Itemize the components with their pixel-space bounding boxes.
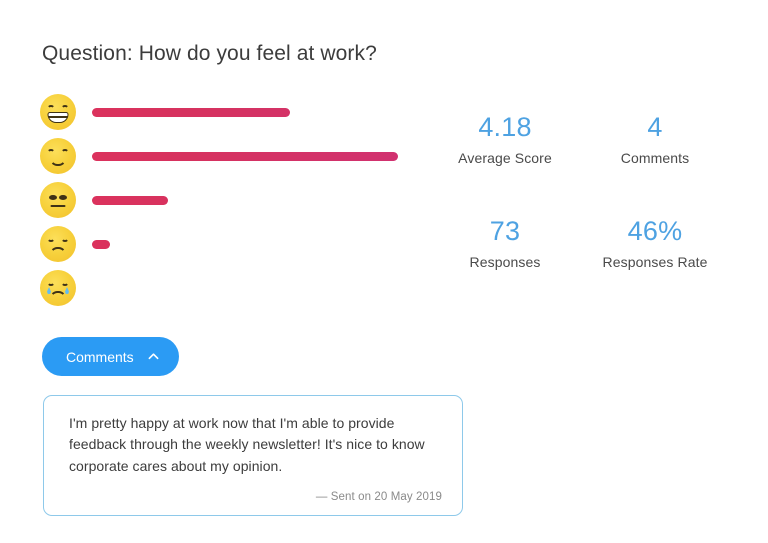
eye-left xyxy=(47,281,55,286)
bar-track xyxy=(92,226,420,262)
bar-track xyxy=(92,94,420,130)
bar-track xyxy=(92,138,420,174)
summary-stats: 4.18 Average Score 4 Comments 73 Respons… xyxy=(430,112,730,270)
comment-text: I'm pretty happy at work now that I'm ab… xyxy=(69,413,442,477)
eye-left xyxy=(47,237,55,242)
comments-toggle-label: Comments xyxy=(66,349,134,365)
mouth xyxy=(50,291,67,299)
eye-left xyxy=(47,105,55,110)
bar-track xyxy=(92,270,420,306)
stat-value: 46% xyxy=(580,216,730,248)
smiling-face-icon xyxy=(40,138,76,174)
chart-row xyxy=(40,178,420,222)
chart-row xyxy=(40,134,420,178)
stat-responses-rate: 46% Responses Rate xyxy=(580,216,730,270)
crying-face-icon xyxy=(40,270,76,306)
eye-left xyxy=(47,149,55,154)
mouth xyxy=(48,112,69,123)
chart-row xyxy=(40,266,420,310)
stat-label: Comments xyxy=(580,150,730,166)
bar-very-happy xyxy=(92,108,290,117)
survey-question-result-panel: Question: How do you feel at work? xyxy=(0,0,768,543)
stat-comments: 4 Comments xyxy=(580,112,730,166)
eye-right xyxy=(61,237,69,242)
stat-value: 4.18 xyxy=(430,112,580,144)
eye-right xyxy=(61,105,69,110)
grinning-face-icon xyxy=(40,94,76,130)
bar-track xyxy=(92,182,420,218)
eye-right xyxy=(61,149,69,154)
stat-label: Responses xyxy=(430,254,580,270)
stat-label: Responses Rate xyxy=(580,254,730,270)
stat-average-score: 4.18 Average Score xyxy=(430,112,580,166)
bar-happy xyxy=(92,152,398,161)
eye-left xyxy=(49,195,57,200)
comment-card: I'm pretty happy at work now that I'm ab… xyxy=(43,395,463,516)
stat-value: 4 xyxy=(580,112,730,144)
stat-label: Average Score xyxy=(430,150,580,166)
stat-value: 73 xyxy=(430,216,580,248)
chart-row xyxy=(40,90,420,134)
bar-neutral xyxy=(92,196,168,205)
stat-responses: 73 Responses xyxy=(430,216,580,270)
chart-row xyxy=(40,222,420,266)
bar-sad xyxy=(92,240,110,249)
mouth xyxy=(50,158,67,166)
page-title: Question: How do you feel at work? xyxy=(42,42,377,66)
tear-right xyxy=(65,287,69,294)
eye-right xyxy=(59,195,67,200)
comment-meta: — Sent on 20 May 2019 xyxy=(69,491,442,503)
eye-right xyxy=(61,281,69,286)
neutral-face-icon xyxy=(40,182,76,218)
chevron-up-icon xyxy=(148,351,159,362)
sad-face-icon xyxy=(40,226,76,262)
mouth xyxy=(51,205,66,207)
sentiment-bar-chart xyxy=(40,90,420,310)
mouth xyxy=(50,247,67,255)
comments-toggle-button[interactable]: Comments xyxy=(42,337,179,376)
